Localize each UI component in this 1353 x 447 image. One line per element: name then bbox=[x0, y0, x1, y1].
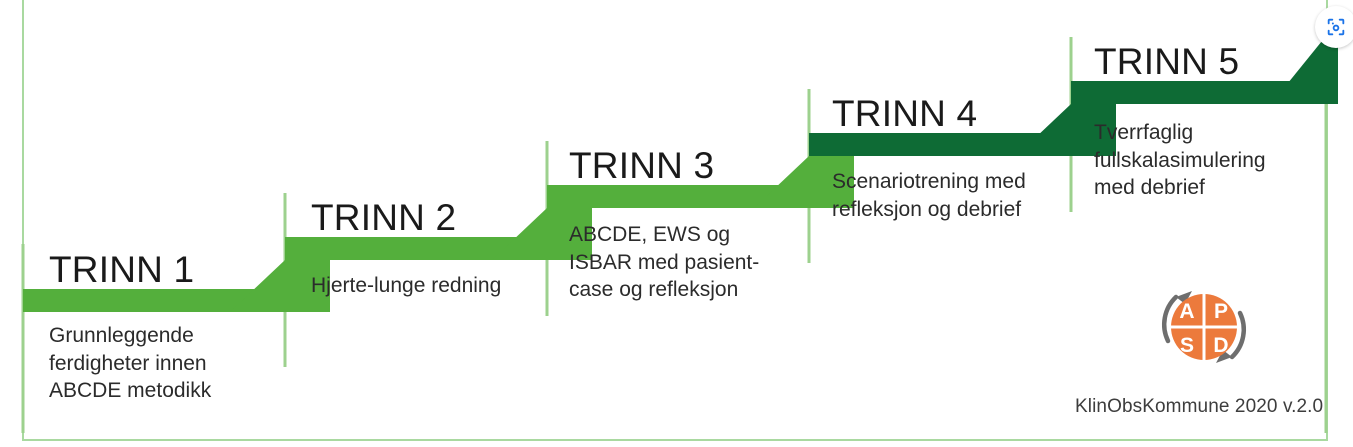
step-description-trinn-3: ABCDE, EWS og ISBAR med pasient- case og… bbox=[569, 221, 809, 304]
step-description-trinn-4: Scenariotrening med refleksjon og debrie… bbox=[832, 168, 1072, 223]
lens-scan-button[interactable] bbox=[1315, 6, 1353, 48]
step-title-trinn-4: TRINN 4 bbox=[832, 95, 977, 132]
step-title-trinn-1: TRINN 1 bbox=[49, 251, 194, 288]
step-description-trinn-1: Grunnleggende ferdigheter innen ABCDE me… bbox=[49, 322, 279, 405]
step-title-trinn-2: TRINN 2 bbox=[311, 199, 456, 236]
apsd-letter-s: S bbox=[1180, 334, 1194, 357]
staircase-figure: TRINN 1 Grunnleggende ferdigheter innen … bbox=[0, 0, 1353, 447]
apsd-letter-p: P bbox=[1214, 300, 1228, 323]
step-description-trinn-2: Hjerte-lunge redning bbox=[311, 272, 546, 300]
step-title-trinn-5: TRINN 5 bbox=[1094, 43, 1239, 80]
step-description-trinn-5: Tverrfaglig fullskalasimulering med debr… bbox=[1094, 119, 1309, 202]
lens-scan-icon bbox=[1325, 16, 1347, 38]
apsd-letter-d: D bbox=[1213, 334, 1228, 357]
footer-caption: KlinObsKommune 2020 v.2.0 bbox=[1075, 396, 1323, 418]
apsd-logo: A P S D bbox=[1152, 275, 1256, 379]
apsd-letter-a: A bbox=[1179, 300, 1194, 323]
step-title-trinn-3: TRINN 3 bbox=[569, 147, 714, 184]
